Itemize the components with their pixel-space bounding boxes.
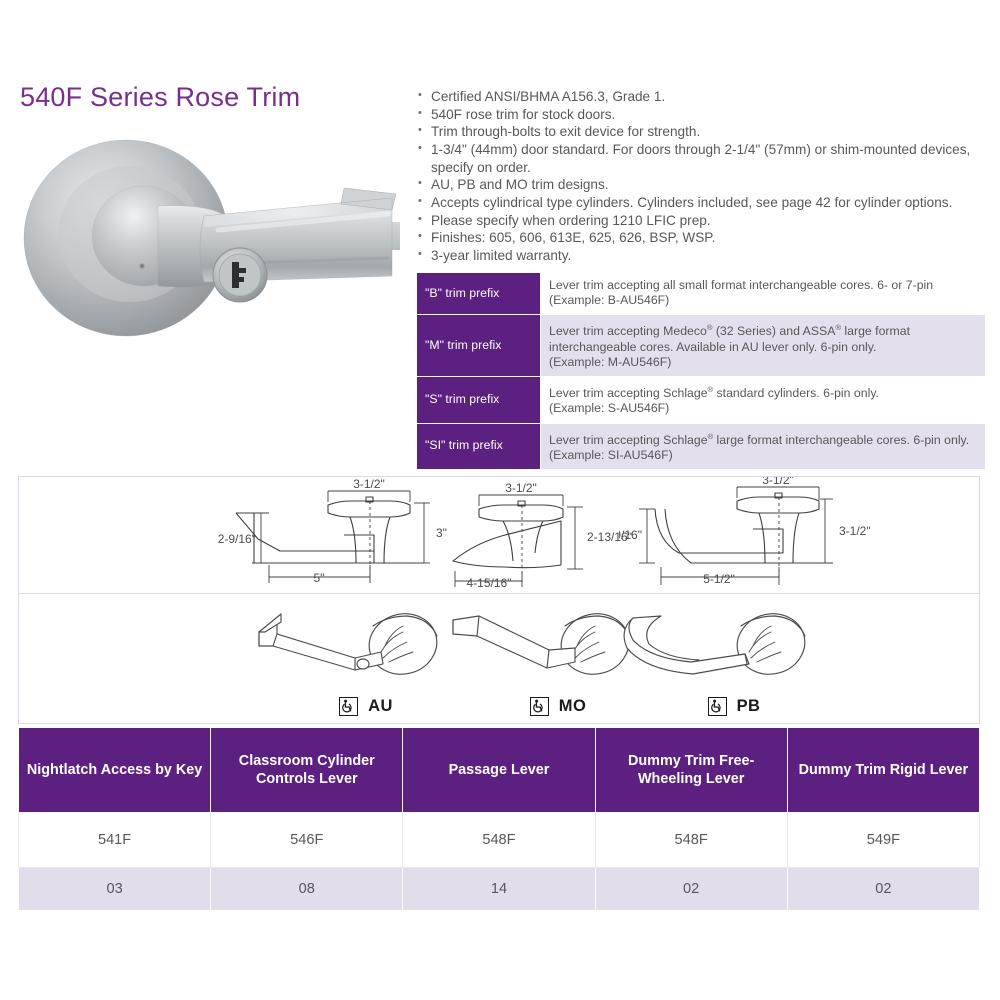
feature-item: 540F rose trim for stock doors.	[416, 106, 988, 123]
lever-designs-panel: AU	[18, 594, 980, 724]
table-row-code: 03 08 14 02 02	[19, 868, 980, 911]
dim-label-height-left: 2-9/16"	[619, 528, 642, 542]
table-row: "B" trim prefix Lever trim accepting all…	[417, 273, 986, 315]
table-row: "S" trim prefix Lever trim accepting Sch…	[417, 377, 986, 424]
trim-prefix-table: "B" trim prefix Lever trim accepting all…	[416, 272, 986, 470]
prefix-desc-line: Lever trim accepting Medeco	[549, 325, 707, 339]
prefix-key-cell: "S" trim prefix	[417, 377, 541, 424]
feature-item: Certified ANSI/BHMA A156.3, Grade 1.	[416, 88, 988, 105]
dim-label-width-top: 3-1/2"	[762, 477, 794, 487]
lever-code: MO	[559, 697, 586, 716]
dim-label-height-right: 3-1/2"	[839, 524, 871, 538]
column-header: Dummy Trim Free-Wheeling Lever	[595, 728, 787, 813]
prefix-desc-line: (Example: M-AU546F)	[549, 355, 671, 369]
page-title: 540F Series Rose Trim	[20, 82, 300, 113]
lever-code: PB	[737, 697, 761, 716]
prefix-desc-cell: Lever trim accepting Schlage® standard c…	[541, 377, 986, 424]
dim-label-length: 4-15/16"	[467, 576, 512, 590]
model-cell: 541F	[19, 813, 211, 868]
column-header: Nightlatch Access by Key	[19, 728, 211, 813]
feature-item: Accepts cylindrical type cylinders. Cyli…	[416, 194, 988, 211]
model-cell: 548F	[595, 813, 787, 868]
prefix-desc-line: large format	[841, 325, 910, 339]
lever-drawing-pb	[619, 602, 849, 684]
model-cell: 546F	[211, 813, 403, 868]
feature-item: 3-year limited warranty.	[416, 247, 988, 264]
code-cell: 02	[595, 868, 787, 911]
dimension-drawings-panel: 3-1/2" 3" 2-9/16" 5"	[18, 476, 980, 594]
accessibility-icon	[708, 697, 727, 716]
prefix-desc-line: (32 Series) and ASSA	[712, 325, 835, 339]
column-header: Classroom Cylinder Controls Lever	[211, 728, 403, 813]
prefix-desc-cell: Lever trim accepting Medeco® (32 Series)…	[541, 315, 986, 377]
feature-item: Trim through-bolts to exit device for st…	[416, 123, 988, 140]
prefix-key-cell: "M" trim prefix	[417, 315, 541, 377]
prefix-desc-cell: Lever trim accepting all small format in…	[541, 273, 986, 315]
dim-label-length: 5"	[314, 571, 325, 585]
feature-item: 1-3/4" (44mm) door standard. For doors t…	[416, 141, 988, 176]
lever-label-pb: PB	[619, 697, 849, 716]
code-cell: 02	[787, 868, 979, 911]
prefix-desc-line: Lever trim accepting Schlage	[549, 433, 708, 447]
table-row: "SI" trim prefix Lever trim accepting Sc…	[417, 423, 986, 470]
product-photo	[8, 130, 408, 345]
feature-list: Certified ANSI/BHMA A156.3, Grade 1. 540…	[416, 88, 988, 265]
accessibility-icon	[530, 697, 549, 716]
lever-design-pb: PB	[619, 602, 849, 722]
prefix-desc-line: Lever trim accepting Schlage	[549, 386, 708, 400]
dimension-figure-pb: 3-1/2" 3-1/2" 2-9/16" 5-1/2"	[619, 477, 879, 595]
prefix-desc-line: Lever trim accepting all small format in…	[549, 278, 933, 292]
column-header: Dummy Trim Rigid Lever	[787, 728, 979, 813]
prefix-desc-line: (Example: S-AU546F)	[549, 401, 669, 415]
lever-handle-photo	[8, 130, 408, 345]
table-header-row: Nightlatch Access by Key Classroom Cylin…	[19, 728, 980, 813]
prefix-desc-line: (Example: SI-AU546F)	[549, 448, 673, 462]
model-cell: 549F	[787, 813, 979, 868]
feature-item: Finishes: 605, 606, 613E, 625, 626, BSP,…	[416, 229, 988, 246]
dim-label-width-top: 3-1/2"	[505, 481, 537, 495]
dim-label-width-top: 3-1/2"	[353, 477, 385, 491]
prefix-desc-cell: Lever trim accepting Schlage® large form…	[541, 423, 986, 470]
model-cell: 548F	[403, 813, 595, 868]
feature-item: Please specify when ordering 1210 LFIC p…	[416, 212, 988, 229]
code-cell: 08	[211, 868, 403, 911]
dim-label-height-left: 2-9/16"	[218, 532, 256, 546]
dimension-figure-au: 3-1/2" 3" 2-9/16" 5"	[214, 477, 464, 595]
prefix-desc-line: standard cylinders. 6-pin only.	[713, 386, 879, 400]
prefix-key-cell: "SI" trim prefix	[417, 423, 541, 470]
function-table: Nightlatch Access by Key Classroom Cylin…	[18, 727, 980, 911]
dim-label-length: 5-1/2"	[703, 572, 735, 586]
table-row-model: 541F 546F 548F 548F 549F	[19, 813, 980, 868]
table-row: "M" trim prefix Lever trim accepting Med…	[417, 315, 986, 377]
column-header: Passage Lever	[403, 728, 595, 813]
lever-code: AU	[368, 697, 393, 716]
accessibility-icon	[339, 697, 358, 716]
code-cell: 14	[403, 868, 595, 911]
feature-item: AU, PB and MO trim designs.	[416, 176, 988, 193]
prefix-key-cell: "B" trim prefix	[417, 273, 541, 315]
prefix-desc-line: interchangeable cores. Available in AU l…	[549, 340, 876, 354]
prefix-desc-line: large format interchangeable cores. 6-pi…	[713, 433, 969, 447]
prefix-desc-line: (Example: B-AU546F)	[549, 293, 669, 307]
code-cell: 03	[19, 868, 211, 911]
